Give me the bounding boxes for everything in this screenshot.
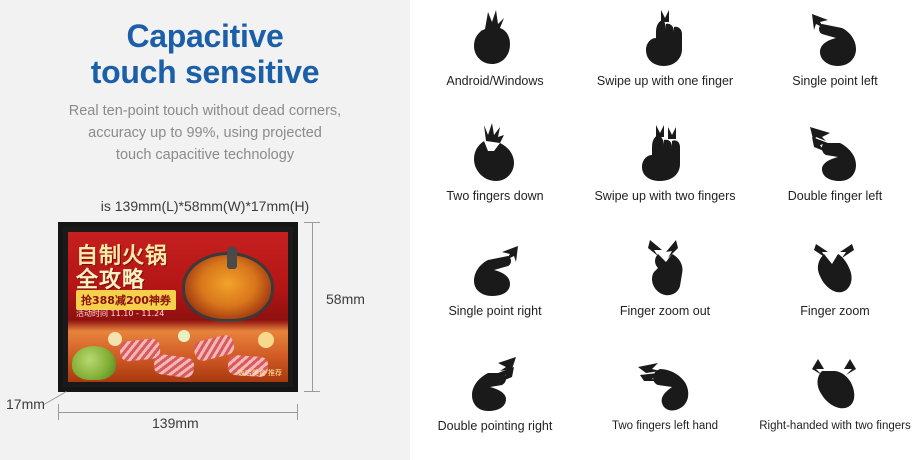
- dimension-depth-label: 17mm: [6, 396, 45, 412]
- page-title: Capacitive touch sensitive: [0, 18, 410, 90]
- subheading: Real ten-point touch without dead corner…: [30, 100, 380, 166]
- hotpot-illustration: [182, 252, 274, 322]
- hand-single-point-right-icon: [458, 238, 532, 300]
- gesture-label: Right-handed with two fingers: [759, 419, 911, 433]
- hand-swipe-up-two-fingers-icon: [628, 123, 702, 185]
- hand-double-pointing-right-icon: [458, 353, 532, 415]
- gesture-label: Android/Windows: [446, 74, 543, 88]
- hand-single-point-left-icon: [798, 8, 872, 70]
- food-dot-2: [178, 330, 190, 342]
- gesture-cell-7: Single point right: [410, 230, 580, 345]
- gesture-label: Two fingers left hand: [612, 419, 718, 433]
- gesture-cell-11: Two fingers left hand: [580, 345, 750, 460]
- meat-slice-2: [153, 353, 195, 378]
- gesture-label: Double pointing right: [438, 419, 553, 433]
- subheading-line-2: accuracy up to 99%, using projected: [30, 122, 380, 144]
- subheading-line-3: touch capacitive technology: [30, 144, 380, 166]
- left-panel: Capacitive touch sensitive Real ten-poin…: [0, 0, 410, 460]
- dimension-width-label: 139mm: [152, 415, 199, 431]
- hand-tap-icon: [458, 8, 532, 70]
- dimension-width-tick-right: [297, 404, 298, 420]
- gesture-label: Double finger left: [788, 189, 883, 203]
- dimension-width-line: [58, 412, 298, 413]
- gesture-cell-6: Double finger left: [750, 115, 920, 230]
- gesture-cell-3: Single point left: [750, 0, 920, 115]
- gesture-label: Finger zoom out: [620, 304, 710, 318]
- gesture-cell-4: Two fingers down: [410, 115, 580, 230]
- hand-double-finger-left-icon: [798, 123, 872, 185]
- hand-right-handed-two-fingers-icon: [798, 353, 872, 415]
- gesture-label: Swipe up with two fingers: [594, 189, 735, 203]
- subheading-line-1: Real ten-point touch without dead corner…: [30, 100, 380, 122]
- gesture-cell-8: Finger zoom out: [580, 230, 750, 345]
- food-dot-3: [258, 332, 274, 348]
- hand-finger-zoom-out-icon: [628, 238, 702, 300]
- dimension-depth-line: [44, 391, 67, 405]
- hand-finger-zoom-icon: [798, 238, 872, 300]
- gesture-cell-12: Right-handed with two fingers: [750, 345, 920, 460]
- vegetable-illustration: [72, 346, 116, 380]
- device-screen-poster: 自制火锅 全攻略 抢388减200神券 活动时间 11.10 - 11.24 饭…: [68, 232, 288, 382]
- poster-footer-text: 饭店美食 推荐: [238, 368, 282, 378]
- headline-line-1: Capacitive: [0, 18, 410, 54]
- dimension-height-tick-top: [304, 222, 320, 223]
- gesture-panel: Android/Windows Swipe up with one finger…: [410, 0, 920, 460]
- dimension-height-label: 58mm: [326, 291, 365, 307]
- dimension-width-tick-left: [58, 404, 59, 420]
- gesture-cell-2: Swipe up with one finger: [580, 0, 750, 115]
- hand-two-fingers-left-hand-icon: [628, 353, 702, 415]
- gesture-cell-5: Swipe up with two fingers: [580, 115, 750, 230]
- gesture-grid: Android/Windows Swipe up with one finger…: [410, 0, 920, 460]
- headline-line-2: touch sensitive: [0, 54, 410, 90]
- gesture-label: Swipe up with one finger: [597, 74, 733, 88]
- dimension-height-tick-bottom: [304, 391, 320, 392]
- product-feature-slide: Capacitive touch sensitive Real ten-poin…: [0, 0, 920, 460]
- gesture-cell-9: Finger zoom: [750, 230, 920, 345]
- hand-two-fingers-down-icon: [458, 123, 532, 185]
- food-dot-1: [108, 332, 122, 346]
- gesture-label: Single point right: [448, 304, 541, 318]
- gesture-cell-10: Double pointing right: [410, 345, 580, 460]
- dimension-caption: is 139mm(L)*58mm(W)*17mm(H): [0, 198, 410, 214]
- poster-promo-badge: 抢388减200神券: [76, 290, 176, 310]
- gesture-label: Finger zoom: [800, 304, 869, 318]
- device-mockup: 自制火锅 全攻略 抢388减200神券 活动时间 11.10 - 11.24 饭…: [58, 222, 298, 392]
- dimension-height-line: [312, 222, 313, 392]
- gesture-label: Two fingers down: [446, 189, 543, 203]
- hand-swipe-up-one-finger-icon: [628, 8, 702, 70]
- gesture-label: Single point left: [792, 74, 877, 88]
- poster-subtitle: 活动时间 11.10 - 11.24: [76, 308, 164, 319]
- gesture-cell-1: Android/Windows: [410, 0, 580, 115]
